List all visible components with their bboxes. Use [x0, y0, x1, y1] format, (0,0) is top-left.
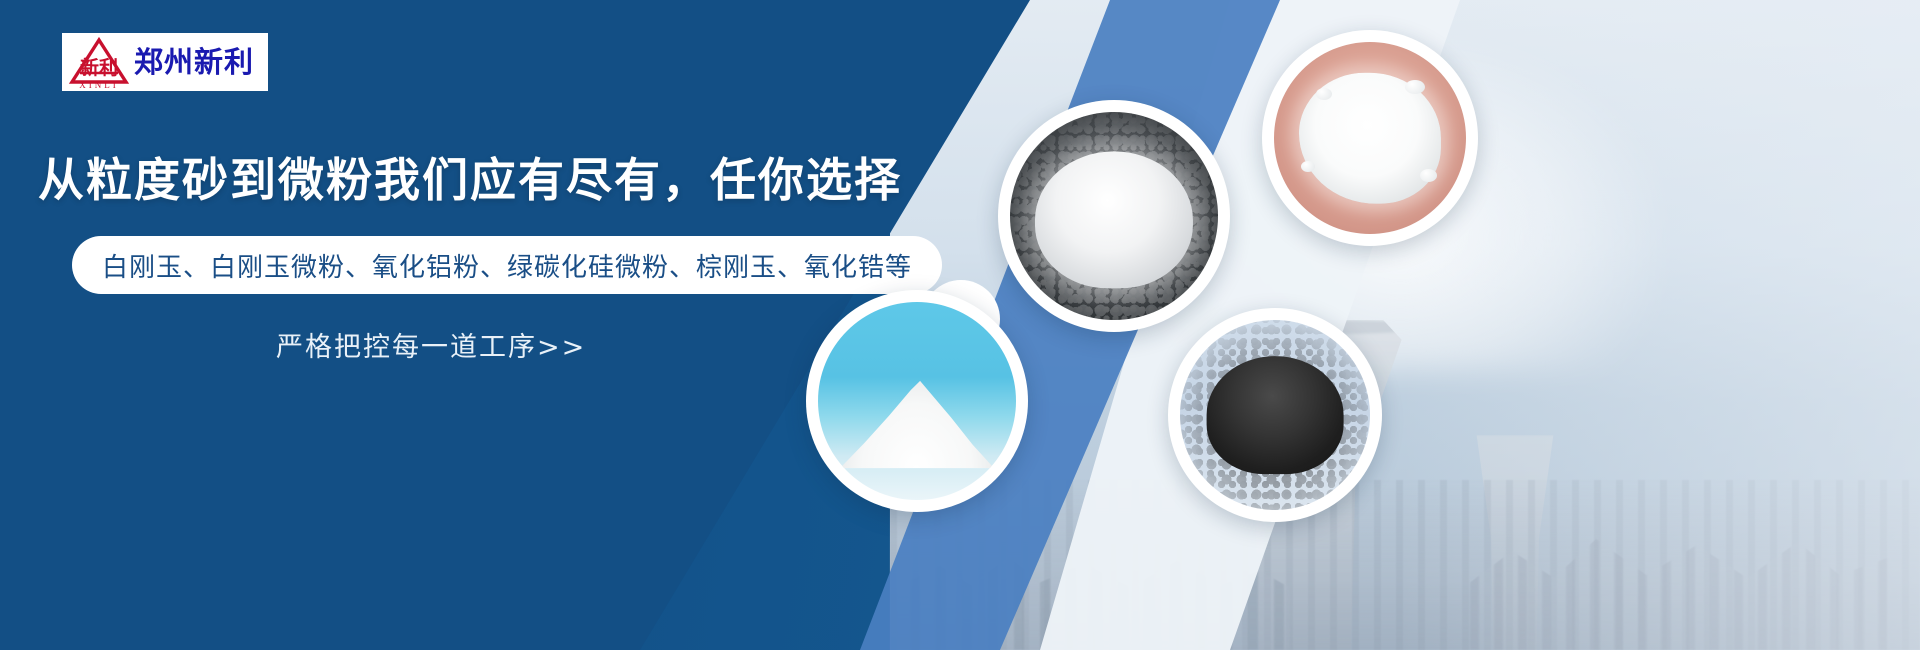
- xinli-triangle-icon: 新利 XINLI: [68, 36, 130, 88]
- product-circle-white-alumina-powder[interactable]: [1262, 30, 1478, 246]
- company-name-text: 郑州新利: [134, 48, 254, 77]
- product-circle-alumina-fine-powder[interactable]: [806, 290, 1028, 512]
- product-circle-white-fused-alumina-grit[interactable]: [998, 100, 1230, 332]
- powder-heap: [1035, 152, 1193, 289]
- product-circle-black-silicon-carbide[interactable]: [1168, 308, 1382, 522]
- product-photo-white-alumina-powder: [1274, 42, 1466, 234]
- company-logo[interactable]: 新利 XINLI 郑州新利: [62, 33, 268, 91]
- product-list-text: 白刚玉、白刚玉微粉、氧化铝粉、绿碳化硅微粉、棕刚玉、氧化锆等: [102, 247, 912, 284]
- product-photo-black-silicon-carbide: [1180, 320, 1370, 510]
- promotional-banner: 新利 XINLI 郑州新利 从粒度砂到微粉我们应有尽有，任你选择 白刚玉、白刚玉…: [0, 0, 1920, 650]
- corner-fade-overlay: [1400, 0, 1920, 650]
- product-photo-alumina-fine-powder: [818, 302, 1016, 500]
- tagline-link[interactable]: 严格把控每一道工序>>: [276, 325, 586, 364]
- logo-pinyin: XINLI: [68, 80, 130, 90]
- svg-text:新利: 新利: [80, 56, 118, 79]
- powder-chunk: [1405, 80, 1425, 94]
- powder-heap: [840, 377, 994, 468]
- headline-text: 从粒度砂到微粉我们应有尽有，任你选择: [38, 144, 902, 210]
- powder-chunk: [1420, 169, 1437, 182]
- powder-heap: [1207, 356, 1344, 474]
- product-list-pill[interactable]: 白刚玉、白刚玉微粉、氧化铝粉、绿碳化硅微粉、棕刚玉、氧化锆等: [72, 236, 942, 294]
- product-photo-white-fused-alumina-grit: [1010, 112, 1218, 320]
- powder-chunk: [1301, 161, 1315, 172]
